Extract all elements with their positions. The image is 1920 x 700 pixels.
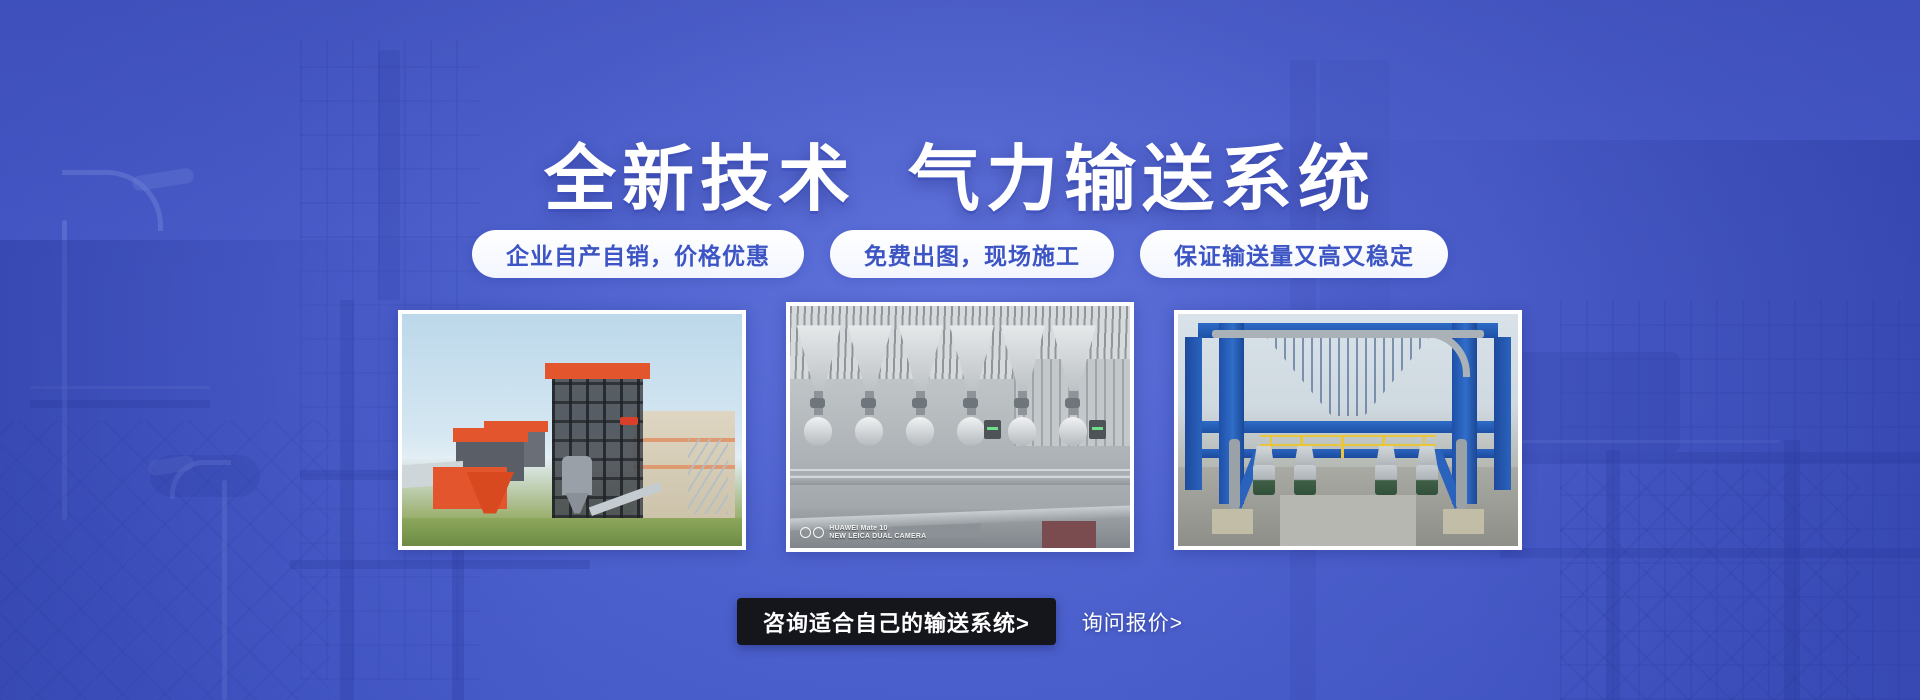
gallery-card-1[interactable] (398, 310, 746, 550)
feature-badge-2: 免费出图，现场施工 (830, 230, 1114, 278)
photo3-pump-2 (1294, 465, 1316, 495)
gallery: HUAWEI Mate 10 NEW LEICA DUAL CAMERA (0, 310, 1920, 552)
gallery-image-conveying-hall: HUAWEI Mate 10 NEW LEICA DUAL CAMERA (790, 306, 1130, 548)
photo3-yellow-rail-2 (1260, 444, 1437, 447)
feature-badge-3-label: 保证输送量又高又稳定 (1174, 237, 1414, 271)
photo2-valve-2 (861, 398, 875, 408)
photo3-downpipe-right (1456, 439, 1467, 509)
photo2-control-box-1 (984, 420, 1001, 439)
feature-badge-1-label: 企业自产自销，价格优惠 (506, 237, 770, 271)
photo2-send-vessel-1 (804, 417, 833, 446)
photo3-footing-right (1443, 509, 1484, 535)
photo2-watermark: HUAWEI Mate 10 NEW LEICA DUAL CAMERA (800, 525, 926, 541)
photo2-handrail-1 (790, 469, 1130, 471)
photo2-send-vessel-4 (957, 417, 986, 446)
photo2-valve-3 (912, 398, 926, 408)
watermark-line-2: NEW LEICA DUAL CAMERA (829, 533, 926, 540)
photo2-red-cabinet (1042, 521, 1096, 548)
consult-conveying-system-button[interactable]: 咨询适合自己的输送系统> (737, 598, 1056, 645)
photo2-send-vessel-3 (906, 417, 935, 446)
gallery-image-plant-exterior (402, 314, 742, 546)
photo2-valve-4 (963, 398, 977, 408)
hero-content: 全新技术 气力输送系统 企业自产自销，价格优惠 免费出图，现场施工 保证输送量又… (0, 0, 1920, 700)
photo1-grass (402, 518, 742, 546)
photo3-yellow-post-3 (1341, 435, 1344, 458)
photo1-tower-cap (545, 363, 650, 379)
gallery-card-2[interactable]: HUAWEI Mate 10 NEW LEICA DUAL CAMERA (786, 302, 1134, 552)
photo1-cap-1 (453, 428, 528, 442)
photo3-pump-4 (1416, 465, 1438, 495)
photo1-silo (562, 456, 593, 495)
photo3-downpipe-left (1229, 439, 1240, 509)
photo2-valve-1 (810, 398, 824, 408)
request-quote-link[interactable]: 询问报价> (1082, 607, 1183, 637)
leica-dual-lens-icon (800, 527, 824, 538)
photo2-valve-5 (1014, 398, 1028, 408)
photo2-valve-6 (1065, 398, 1079, 408)
photo1-logo-mark (620, 417, 638, 425)
hero-headline: 全新技术 气力输送系统 (0, 144, 1920, 216)
photo3-outer-column-left (1185, 337, 1202, 490)
cta-group: 咨询适合自己的输送系统> 询问报价> (0, 598, 1920, 645)
photo2-send-vessel-2 (855, 417, 884, 446)
photo3-slab (1280, 495, 1416, 546)
photo1-stairs (688, 439, 729, 513)
photo3-outer-column-right (1494, 337, 1511, 490)
feature-badge-3: 保证输送量又高又稳定 (1140, 230, 1448, 278)
feature-badge-2-label: 免费出图，现场施工 (864, 237, 1080, 271)
photo2-handrail-2 (790, 476, 1130, 478)
gallery-image-blue-steel-structure (1178, 314, 1518, 546)
photo3-pump-3 (1375, 465, 1397, 495)
watermark-line-1: HUAWEI Mate 10 (829, 525, 887, 532)
photo3-footing-left (1212, 509, 1253, 535)
photo3-yellow-rail-1 (1260, 435, 1437, 438)
feature-badge-1: 企业自产自销，价格优惠 (472, 230, 804, 278)
hero-banner: 全新技术 气力输送系统 企业自产自销，价格优惠 免费出图，现场施工 保证输送量又… (0, 0, 1920, 700)
photo2-watermark-text: HUAWEI Mate 10 NEW LEICA DUAL CAMERA (829, 525, 926, 541)
feature-badge-list: 企业自产自销，价格优惠 免费出图，现场施工 保证输送量又高又稳定 (0, 230, 1920, 278)
photo3-pump-1 (1253, 465, 1275, 495)
gallery-card-3[interactable] (1174, 310, 1522, 550)
photo2-control-box-2 (1089, 420, 1106, 439)
